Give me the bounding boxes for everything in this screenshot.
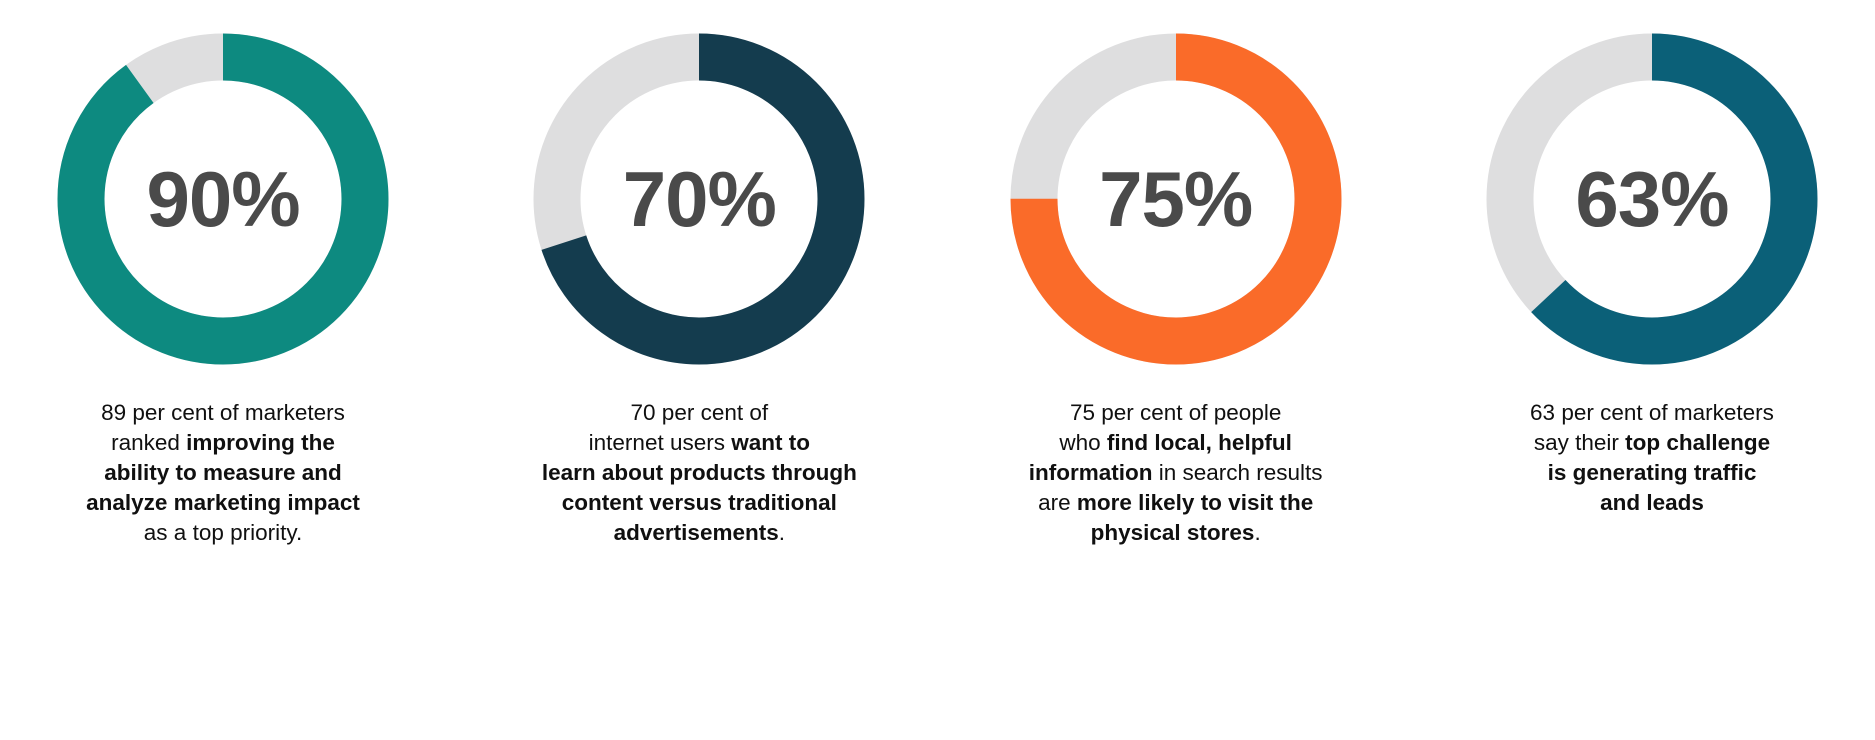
- donut-percent-label-1: 90%: [54, 30, 392, 368]
- caption-emphasis: is generating traffic: [1548, 460, 1757, 485]
- caption-text: 75 per cent of people: [1070, 400, 1281, 425]
- caption-line: content versus traditional: [489, 488, 909, 518]
- caption-line: ranked improving the: [13, 428, 433, 458]
- caption-line: say their top challenge: [1442, 428, 1862, 458]
- donut-percent-label-4: 63%: [1483, 30, 1821, 368]
- caption-text: 89 per cent of marketers: [101, 400, 345, 425]
- caption-emphasis: more likely to visit the: [1077, 490, 1313, 515]
- stat-caption-3: 75 per cent of peoplewho find local, hel…: [966, 398, 1386, 548]
- caption-text: say their: [1534, 430, 1625, 455]
- caption-text: who: [1059, 430, 1107, 455]
- caption-line: 75 per cent of people: [966, 398, 1386, 428]
- caption-emphasis: physical stores: [1091, 520, 1255, 545]
- caption-emphasis: improving the: [186, 430, 335, 455]
- donut-stats-infographic: 90% 89 per cent of marketersranked impro…: [0, 0, 1875, 740]
- stat-caption-2: 70 per cent ofinternet users want tolear…: [489, 398, 909, 548]
- donut-percent-label-2: 70%: [530, 30, 868, 368]
- caption-text: 70 per cent of: [631, 400, 769, 425]
- stat-card-2: 70% 70 per cent ofinternet users want to…: [484, 0, 914, 548]
- caption-emphasis: find local, helpful: [1107, 430, 1292, 455]
- caption-text: .: [1254, 520, 1260, 545]
- caption-emphasis: analyze marketing impact: [86, 490, 360, 515]
- caption-text: 63 per cent of marketers: [1530, 400, 1774, 425]
- caption-emphasis: want to: [731, 430, 810, 455]
- caption-line: 70 per cent of: [489, 398, 909, 428]
- donut-chart-3: 75%: [1007, 30, 1345, 368]
- donut-chart-2: 70%: [530, 30, 868, 368]
- caption-text: internet users: [589, 430, 732, 455]
- donut-chart-1: 90%: [54, 30, 392, 368]
- donut-chart-4: 63%: [1483, 30, 1821, 368]
- caption-emphasis: and leads: [1600, 490, 1704, 515]
- caption-line: advertisements.: [489, 518, 909, 548]
- caption-text: as a top priority.: [144, 520, 302, 545]
- caption-emphasis: information: [1029, 460, 1153, 485]
- caption-line: internet users want to: [489, 428, 909, 458]
- caption-line: as a top priority.: [13, 518, 433, 548]
- caption-line: who find local, helpful: [966, 428, 1386, 458]
- stat-caption-4: 63 per cent of marketerssay their top ch…: [1442, 398, 1862, 518]
- stat-card-4: 63% 63 per cent of marketerssay their to…: [1437, 0, 1867, 518]
- caption-emphasis: advertisements: [614, 520, 779, 545]
- caption-text: are: [1038, 490, 1077, 515]
- caption-text: .: [779, 520, 785, 545]
- caption-line: 63 per cent of marketers: [1442, 398, 1862, 428]
- caption-line: physical stores.: [966, 518, 1386, 548]
- stat-card-1: 90% 89 per cent of marketersranked impro…: [8, 0, 438, 548]
- caption-line: analyze marketing impact: [13, 488, 433, 518]
- stat-card-3: 75% 75 per cent of peoplewho find local,…: [961, 0, 1391, 548]
- caption-emphasis: learn about products through: [542, 460, 857, 485]
- caption-text: ranked: [111, 430, 186, 455]
- caption-emphasis: ability to measure and: [104, 460, 342, 485]
- caption-line: is generating traffic: [1442, 458, 1862, 488]
- caption-line: information in search results: [966, 458, 1386, 488]
- stat-caption-1: 89 per cent of marketersranked improving…: [13, 398, 433, 548]
- caption-line: are more likely to visit the: [966, 488, 1386, 518]
- caption-line: 89 per cent of marketers: [13, 398, 433, 428]
- caption-text: in search results: [1152, 460, 1322, 485]
- caption-emphasis: content versus traditional: [562, 490, 837, 515]
- donut-percent-label-3: 75%: [1007, 30, 1345, 368]
- caption-line: and leads: [1442, 488, 1862, 518]
- caption-emphasis: top challenge: [1625, 430, 1770, 455]
- caption-line: learn about products through: [489, 458, 909, 488]
- caption-line: ability to measure and: [13, 458, 433, 488]
